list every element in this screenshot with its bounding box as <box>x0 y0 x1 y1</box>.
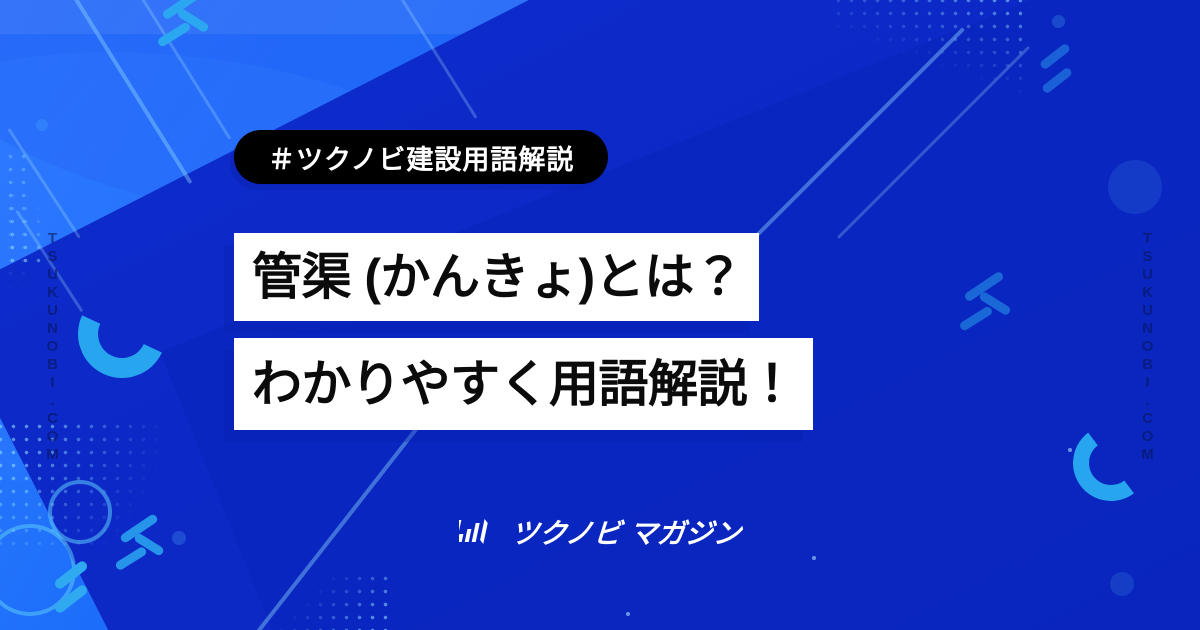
halftone-dots <box>262 572 392 630</box>
circle-filled-icon <box>1108 160 1162 214</box>
headline-text-line1: 管渠 (かんきょ)とは？ <box>252 252 743 302</box>
headline-text-line2: わかりやすく用語解説！ <box>252 359 797 409</box>
headline-band-line2: わかりやすく用語解説！ <box>234 338 813 430</box>
chart-bars-mark-icon <box>459 517 497 547</box>
category-tag-pill[interactable]: ＃ツクノビ建設用語解説 <box>234 130 608 184</box>
site-logo-text: ツクノビ マガジン <box>510 512 743 552</box>
lightning-bolt-icon <box>962 278 1018 328</box>
headline-band-line1: 管渠 (かんきょ)とは？ <box>234 233 759 321</box>
side-wordmark-left: TSUKUNOBI.COM <box>45 230 60 464</box>
halftone-dots <box>832 0 1022 94</box>
circle-filled-icon <box>1110 572 1134 596</box>
dot-speck <box>812 556 816 560</box>
side-wordmark-right: TSUKUNOBI.COM <box>1140 230 1155 464</box>
og-image-canvas: TSUKUNOBI.COM TSUKUNOBI.COM ＃ツクノビ建設用語解説 … <box>0 0 1200 630</box>
dot-speck <box>626 612 630 616</box>
dot-speck <box>1068 448 1072 452</box>
circle-filled-icon <box>36 119 48 131</box>
circle-filled-icon <box>1052 15 1065 28</box>
halftone-dots <box>4 150 30 350</box>
lightning-bolt-icon <box>160 0 214 44</box>
category-tag-label: ＃ツクノビ建設用語解説 <box>268 138 574 177</box>
site-logo[interactable]: ツクノビ マガジン <box>0 512 1200 552</box>
